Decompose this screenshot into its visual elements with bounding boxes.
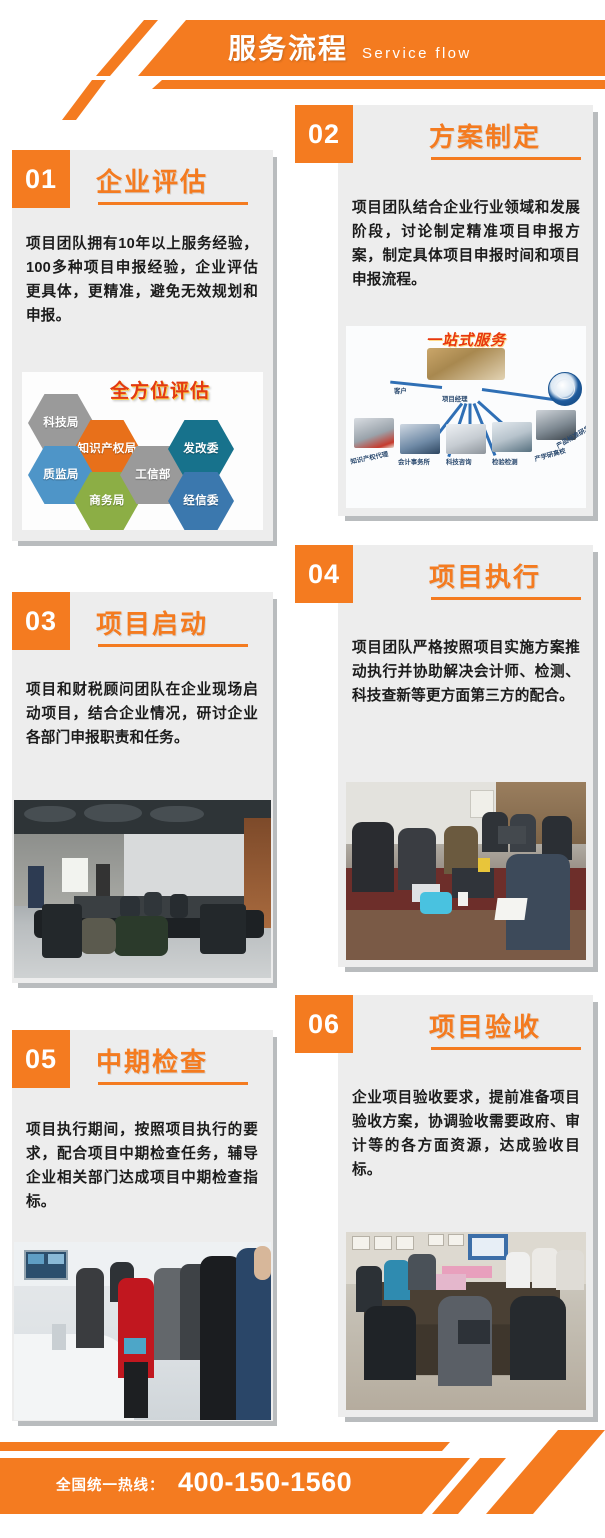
page-footer: 全国统一热线： 400-150-1560 [0,1420,605,1538]
card-title-06: 项目验收 [429,1007,541,1044]
card-title-03: 项目启动 [96,604,208,641]
card-photo-03 [14,800,271,978]
hotline-label: 全国统一热线： [56,1470,165,1502]
header-banner-underline [152,80,605,89]
label-project-manager: 项目经理 [442,394,468,403]
card-title-05: 中期检查 [96,1042,208,1079]
card-description-02: 项目团队结合企业行业领域和发展阶段，讨论制定精准项目申报方案，制定具体项目申报时… [352,196,580,292]
card-title-rule [98,644,248,647]
card-description-04: 项目团队严格按照项目实施方案推动执行并协助解决会计师、检测、科技查新等更方面第三… [352,636,580,708]
footer-banner-topline [0,1442,450,1451]
label-accounting: 会计事务所 [398,457,430,466]
page-title: 服务流程 [228,27,348,71]
page-header: 服务流程 Service flow [0,0,605,118]
card-figure-02-one-stop-service: 一站式服务 客户 项目经理 知识产权代理 会计事务所 科技咨询 检验检测 产学研… [346,326,586,508]
card-title-rule [98,202,248,205]
label-ip-agency: 知识产权代理 [349,449,388,466]
node-photo-accounting [400,424,440,454]
card-description-06: 企业项目验收要求，提前准备项目验收方案，协调验收需要政府、审计等的各方面资源，达… [352,1086,580,1182]
card-photo-05 [14,1242,271,1420]
hexagon-cluster-title: 全方位评估 [110,376,210,403]
label-inspection: 检验检测 [492,457,518,466]
card-title-01: 企业评估 [96,162,208,199]
header-slash-lower [62,80,162,120]
label-customer: 客户 [394,386,407,395]
card-description-01: 项目团队拥有10年以上服务经验，100多种项目申报经验，企业评估更具体，更精准，… [26,232,258,328]
card-number-badge-06: 06 [295,995,353,1053]
card-description-05: 项目执行期间，按照项目执行的要求，配合项目中期检查任务，辅导企业相关部门达成项目… [26,1118,258,1214]
card-number-badge-05: 05 [12,1030,70,1088]
card-description-03: 项目和财税顾问团队在企业现场启动项目，结合企业情况，研讨企业各部门申报职责和任务… [26,678,258,750]
card-title-rule [431,597,581,600]
hub-photo [427,348,505,380]
card-photo-04 [346,782,586,960]
card-figure-01-hexagon-cluster: 全方位评估 科技局 知识产权局 质监局 商务局 工信部 发改委 经信委 [22,372,263,530]
label-tech-consult: 科技咨询 [446,457,472,466]
card-number-badge-01: 01 [12,150,70,208]
footer-slash-outer [486,1430,605,1514]
card-number-badge-03: 03 [12,592,70,650]
page-subtitle: Service flow [362,39,472,69]
card-title-04: 项目执行 [429,557,541,594]
node-photo-ip-agency [354,418,394,448]
service-flow-poster: 服务流程 Service flow 01 企业评估 项目团队拥有10年以上服务经… [0,0,605,1538]
hotline-number[interactable]: 400-150-1560 [178,1462,352,1502]
node-photo-tech-consult [446,424,486,454]
node-photo-inspection [492,422,532,452]
iso-seal-icon [548,372,582,406]
card-title-02: 方案制定 [429,117,541,154]
card-number-badge-04: 04 [295,545,353,603]
card-photo-06 [346,1232,586,1410]
card-title-rule [431,1047,581,1050]
card-title-rule [98,1082,248,1085]
one-stop-service-title: 一站式服务 [426,329,506,350]
card-number-badge-02: 02 [295,105,353,163]
card-title-rule [431,157,581,160]
